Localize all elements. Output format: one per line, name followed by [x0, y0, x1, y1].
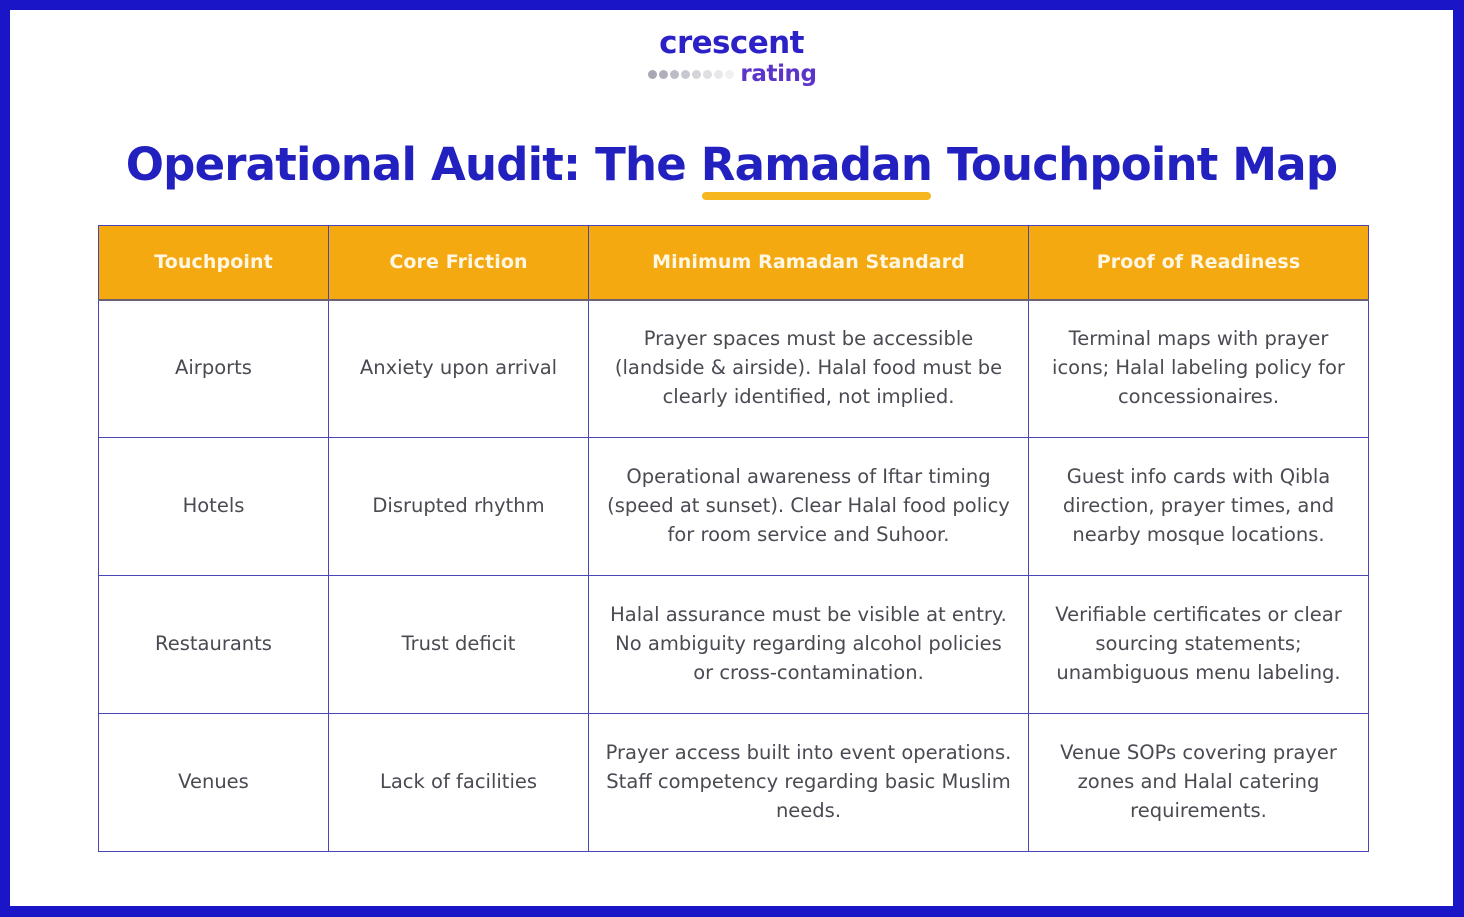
cell-core-friction: Anxiety upon arrival — [329, 300, 589, 438]
cell-proof-of-readiness: Guest info cards with Qibla direction, p… — [1029, 438, 1369, 576]
cell-minimum-standard: Prayer access built into event operation… — [589, 714, 1029, 852]
table-row: Restaurants Trust deficit Halal assuranc… — [99, 576, 1369, 714]
cell-proof-of-readiness: Terminal maps with prayer icons; Halal l… — [1029, 300, 1369, 438]
crescentrating-logo: crescent rating — [10, 28, 1453, 86]
slide-canvas: crescent rating Operational Audit: The R… — [10, 10, 1453, 906]
cell-proof-of-readiness: Verifiable certificates or clear sourcin… — [1029, 576, 1369, 714]
logo-wordmark-crescent: crescent — [659, 28, 804, 59]
cell-touchpoint: Venues — [99, 714, 329, 852]
crescent-moon-phase-dots-icon — [648, 70, 734, 80]
page-title-highlight-ramadan: Ramadan — [701, 138, 932, 191]
column-header-touchpoint: Touchpoint — [99, 226, 329, 300]
cell-minimum-standard: Prayer spaces must be accessible (landsi… — [589, 300, 1029, 438]
column-header-minimum-ramadan-standard: Minimum Ramadan Standard — [589, 226, 1029, 300]
page-title-part-1: Operational Audit: The — [126, 138, 701, 191]
cell-touchpoint: Airports — [99, 300, 329, 438]
table-row: Airports Anxiety upon arrival Prayer spa… — [99, 300, 1369, 438]
cell-core-friction: Trust deficit — [329, 576, 589, 714]
page-title: Operational Audit: The Ramadan Touchpoin… — [10, 138, 1453, 191]
cell-core-friction: Lack of facilities — [329, 714, 589, 852]
ramadan-touchpoint-table-container: Touchpoint Core Friction Minimum Ramadan… — [98, 225, 1368, 852]
ramadan-touchpoint-table: Touchpoint Core Friction Minimum Ramadan… — [98, 225, 1369, 852]
logo-wordmark-rating: rating — [740, 63, 816, 86]
cell-core-friction: Disrupted rhythm — [329, 438, 589, 576]
logo-second-row: rating — [648, 63, 816, 86]
page-title-part-2: Touchpoint Map — [932, 138, 1337, 191]
table-row: Venues Lack of facilities Prayer access … — [99, 714, 1369, 852]
cell-touchpoint: Hotels — [99, 438, 329, 576]
cell-touchpoint: Restaurants — [99, 576, 329, 714]
column-header-proof-of-readiness: Proof of Readiness — [1029, 226, 1369, 300]
cell-minimum-standard: Operational awareness of Iftar timing (s… — [589, 438, 1029, 576]
column-header-core-friction: Core Friction — [329, 226, 589, 300]
slide-outer-border: crescent rating Operational Audit: The R… — [0, 0, 1464, 917]
cell-proof-of-readiness: Venue SOPs covering prayer zones and Hal… — [1029, 714, 1369, 852]
table-row: Hotels Disrupted rhythm Operational awar… — [99, 438, 1369, 576]
table-header-row: Touchpoint Core Friction Minimum Ramadan… — [99, 226, 1369, 300]
cell-minimum-standard: Halal assurance must be visible at entry… — [589, 576, 1029, 714]
